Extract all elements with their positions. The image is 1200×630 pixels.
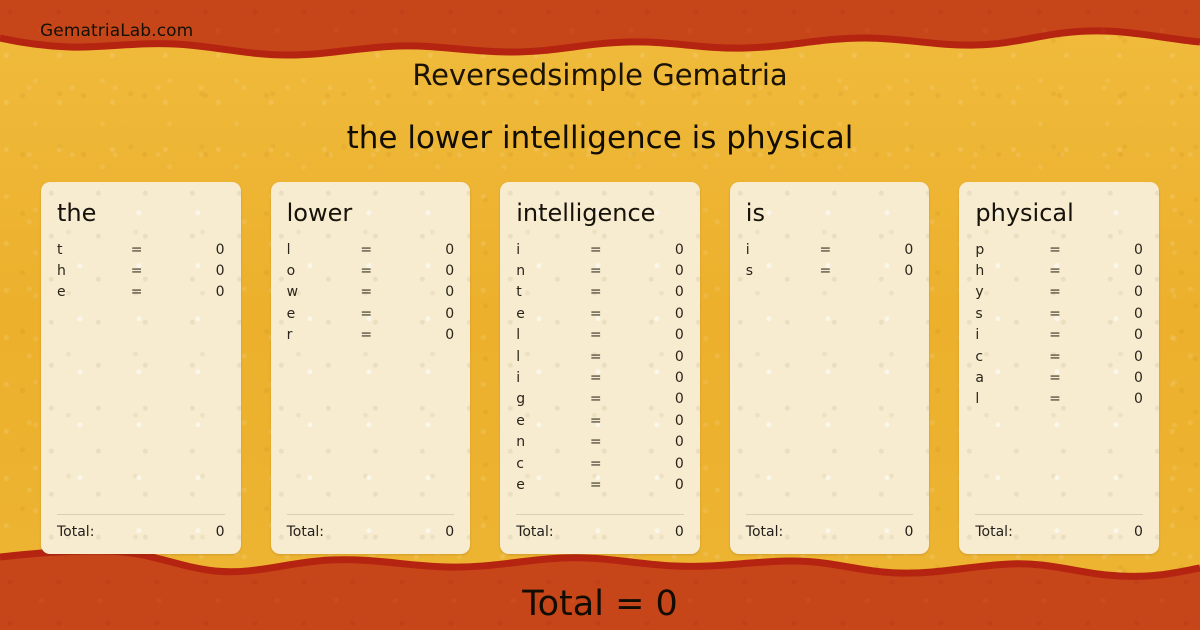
card-total-row: Total:0 [287,514,455,540]
word-card: isi=0s=0Total:0 [730,182,930,554]
letter-glyph: h [975,263,1049,279]
letter-value-list: p=0h=0y=0s=0i=0c=0a=0l=0 [975,242,1143,506]
letter-glyph: i [516,242,590,258]
letter-glyph: t [57,242,131,258]
equals-symbol: = [590,306,634,322]
equals-symbol: = [360,263,404,279]
letter-value: 0 [404,306,454,322]
equals-symbol: = [590,327,634,343]
letter-glyph: e [57,284,131,300]
equals-symbol: = [360,327,404,343]
letter-row: e=0 [516,413,684,434]
cipher-title: Reversedsimple Gematria [0,58,1200,92]
card-total-label: Total: [516,524,553,540]
letter-value: 0 [633,306,683,322]
equals-symbol: = [590,477,634,493]
letter-glyph: r [287,327,361,343]
card-total-row: Total:0 [975,514,1143,540]
word-card: intelligencei=0n=0t=0e=0l=0l=0i=0g=0e=0n… [500,182,700,554]
letter-row: e=0 [516,306,684,327]
letter-row: i=0 [975,327,1143,348]
equals-symbol: = [360,242,404,258]
grand-total-label: Total = 0 [0,584,1200,624]
phrase-title: the lower intelligence is physical [0,120,1200,156]
letter-value: 0 [863,263,913,279]
letter-value: 0 [633,477,683,493]
card-total-label: Total: [746,524,783,540]
letter-glyph: t [516,284,590,300]
letter-row: n=0 [516,263,684,284]
letter-value: 0 [404,263,454,279]
letter-value: 0 [633,370,683,386]
letter-row: i=0 [746,242,914,263]
card-total-row: Total:0 [57,514,225,540]
letter-row: l=0 [287,242,455,263]
letter-glyph: l [516,327,590,343]
letter-glyph: e [287,306,361,322]
equals-symbol: = [1049,327,1093,343]
equals-symbol: = [590,434,634,450]
equals-symbol: = [590,413,634,429]
card-word-label: is [746,200,914,228]
equals-symbol: = [360,306,404,322]
equals-symbol: = [131,284,175,300]
letter-value: 0 [404,284,454,300]
letter-value: 0 [1093,284,1143,300]
letter-value: 0 [633,327,683,343]
letter-row: e=0 [287,306,455,327]
letter-glyph: c [975,349,1049,365]
equals-symbol: = [1049,370,1093,386]
letter-row: h=0 [975,263,1143,284]
letter-value: 0 [633,242,683,258]
letter-value-list: i=0s=0 [746,242,914,506]
letter-value: 0 [1093,391,1143,407]
card-total-label: Total: [287,524,324,540]
card-total-value: 0 [904,524,913,540]
letter-value: 0 [633,434,683,450]
letter-value: 0 [404,327,454,343]
letter-value: 0 [1093,242,1143,258]
letter-glyph: s [746,263,820,279]
letter-row: r=0 [287,327,455,348]
equals-symbol: = [1049,349,1093,365]
letter-row: p=0 [975,242,1143,263]
letter-glyph: e [516,477,590,493]
letter-value: 0 [633,391,683,407]
equals-symbol: = [1049,306,1093,322]
letter-value: 0 [1093,306,1143,322]
letter-value: 0 [174,263,224,279]
card-word-label: the [57,200,225,228]
equals-symbol: = [590,370,634,386]
letter-glyph: l [287,242,361,258]
letter-row: l=0 [516,327,684,348]
letter-glyph: l [516,349,590,365]
equals-symbol: = [820,242,864,258]
card-word-label: physical [975,200,1143,228]
letter-row: e=0 [57,284,225,305]
letter-glyph: l [975,391,1049,407]
equals-symbol: = [590,242,634,258]
letter-glyph: c [516,456,590,472]
card-total-value: 0 [675,524,684,540]
equals-symbol: = [1049,284,1093,300]
letter-glyph: i [516,370,590,386]
equals-symbol: = [1049,391,1093,407]
letter-glyph: n [516,263,590,279]
letter-glyph: e [516,306,590,322]
equals-symbol: = [590,349,634,365]
letter-row: e=0 [516,477,684,498]
letter-glyph: i [746,242,820,258]
letter-value: 0 [633,284,683,300]
equals-symbol: = [1049,263,1093,279]
letter-glyph: o [287,263,361,279]
letter-row: n=0 [516,434,684,455]
letter-value: 0 [633,349,683,365]
letter-value: 0 [1093,263,1143,279]
card-word-label: lower [287,200,455,228]
letter-row: i=0 [516,242,684,263]
equals-symbol: = [1049,242,1093,258]
card-total-row: Total:0 [516,514,684,540]
letter-row: h=0 [57,263,225,284]
letter-glyph: a [975,370,1049,386]
letter-row: g=0 [516,391,684,412]
letter-row: a=0 [975,370,1143,391]
letter-glyph: s [975,306,1049,322]
letter-value: 0 [1093,327,1143,343]
letter-row: c=0 [516,456,684,477]
letter-value: 0 [1093,370,1143,386]
card-word-label: intelligence [516,200,684,228]
card-total-value: 0 [445,524,454,540]
letter-glyph: w [287,284,361,300]
word-card: physicalp=0h=0y=0s=0i=0c=0a=0l=0Total:0 [959,182,1159,554]
letter-value-list: l=0o=0w=0e=0r=0 [287,242,455,506]
letter-row: i=0 [516,370,684,391]
card-total-row: Total:0 [746,514,914,540]
letter-glyph: h [57,263,131,279]
card-total-value: 0 [1134,524,1143,540]
letter-value: 0 [633,263,683,279]
letter-row: y=0 [975,284,1143,305]
letter-glyph: p [975,242,1049,258]
letter-value: 0 [863,242,913,258]
letter-value: 0 [1093,349,1143,365]
letter-glyph: i [975,327,1049,343]
letter-value: 0 [633,413,683,429]
equals-symbol: = [820,263,864,279]
word-card: lowerl=0o=0w=0e=0r=0Total:0 [271,182,471,554]
site-brand-label[interactable]: GematriaLab.com [40,21,193,41]
card-total-value: 0 [216,524,225,540]
letter-glyph: e [516,413,590,429]
letter-value: 0 [174,284,224,300]
letter-row: o=0 [287,263,455,284]
letter-value: 0 [174,242,224,258]
letter-value: 0 [633,456,683,472]
equals-symbol: = [590,263,634,279]
letter-row: w=0 [287,284,455,305]
card-total-label: Total: [975,524,1012,540]
letter-row: t=0 [516,284,684,305]
letter-value: 0 [404,242,454,258]
letter-row: t=0 [57,242,225,263]
letter-row: c=0 [975,349,1143,370]
letter-row: s=0 [975,306,1143,327]
letter-value-list: t=0h=0e=0 [57,242,225,506]
equals-symbol: = [360,284,404,300]
word-cards-row: thet=0h=0e=0Total:0lowerl=0o=0w=0e=0r=0T… [41,182,1159,554]
letter-row: s=0 [746,263,914,284]
card-total-label: Total: [57,524,94,540]
word-card: thet=0h=0e=0Total:0 [41,182,241,554]
letter-glyph: n [516,434,590,450]
letter-glyph: g [516,391,590,407]
equals-symbol: = [590,391,634,407]
letter-glyph: y [975,284,1049,300]
equals-symbol: = [131,263,175,279]
equals-symbol: = [131,242,175,258]
letter-row: l=0 [975,391,1143,412]
equals-symbol: = [590,456,634,472]
letter-value-list: i=0n=0t=0e=0l=0l=0i=0g=0e=0n=0c=0e=0 [516,242,684,506]
equals-symbol: = [590,284,634,300]
letter-row: l=0 [516,349,684,370]
